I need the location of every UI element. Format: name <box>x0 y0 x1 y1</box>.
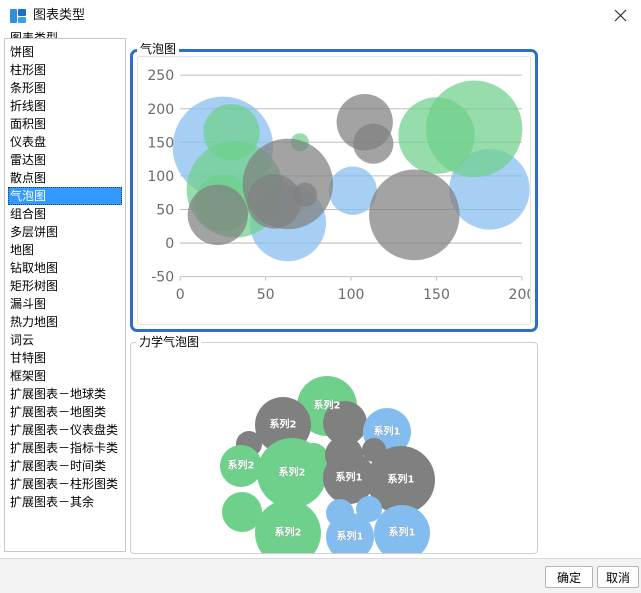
chart-type-item[interactable]: 扩展图表－指标卡类 <box>8 439 122 457</box>
chart-type-item[interactable]: 雷达图 <box>8 151 122 169</box>
force-bubble-preview-frame: 系列2系列2系列1系列2系列2系列1系列1系列2系列1系列1 <box>130 342 538 554</box>
x-axis-tick-label: 100 <box>338 287 365 303</box>
force-bubble-chart: 系列2系列2系列1系列2系列2系列1系列1系列2系列1系列1 <box>131 343 537 553</box>
force-bubble-label: 系列2 <box>228 459 255 472</box>
y-axis-tick-label: 150 <box>147 135 174 151</box>
chart-type-item[interactable]: 扩展图表－地图类 <box>8 403 122 421</box>
chart-type-item[interactable]: 扩展图表－时间类 <box>8 457 122 475</box>
chart-type-item[interactable]: 扩展图表－柱形图类 <box>8 475 122 493</box>
chart-type-item[interactable]: 甘特图 <box>8 349 122 367</box>
chart-type-item[interactable]: 折线图 <box>8 97 122 115</box>
chart-type-item[interactable]: 框架图 <box>8 367 122 385</box>
chart-type-item[interactable]: 多层饼图 <box>8 223 122 241</box>
bubble <box>188 185 248 245</box>
y-axis-tick-label: 50 <box>156 202 174 218</box>
chart-type-item[interactable]: 气泡图 <box>8 187 122 205</box>
dialog-footer: 确定 取消 <box>0 558 641 593</box>
y-axis-tick-label: 200 <box>147 102 174 118</box>
chart-type-item[interactable]: 钻取地图 <box>8 259 122 277</box>
x-axis-tick-label: 50 <box>257 287 275 303</box>
cancel-button[interactable]: 取消 <box>597 566 639 588</box>
x-axis-tick-label: 200 <box>509 287 530 303</box>
bubble <box>369 170 459 261</box>
window-title: 图表类型 <box>33 7 85 25</box>
dialog-body: 图表类型 饼图柱形图条形图折线图面积图仪表盘雷达图散点图气泡图组合图多层饼图地图… <box>0 31 641 558</box>
force-bubble-preview-group[interactable]: 力学气泡图 系列2系列2系列1系列2系列2系列1系列1系列2系列1系列1 <box>130 335 538 554</box>
force-bubble-label: 系列1 <box>374 425 401 438</box>
title-bar: 图表类型 <box>0 0 641 32</box>
force-bubble-label: 系列2 <box>314 399 341 412</box>
chart-type-item[interactable]: 矩形树图 <box>8 277 122 295</box>
y-axis-tick-label: 250 <box>147 68 174 84</box>
chart-type-list[interactable]: 饼图柱形图条形图折线图面积图仪表盘雷达图散点图气泡图组合图多层饼图地图钻取地图矩… <box>8 43 122 548</box>
x-axis-tick-label: 0 <box>176 287 185 303</box>
force-bubble-label: 系列2 <box>270 418 297 431</box>
bubble-preview-frame: -50050100150200250050100150200 <box>130 49 538 332</box>
bubble-chart: -50050100150200250050100150200 <box>138 57 530 324</box>
chart-type-item[interactable]: 饼图 <box>8 43 122 61</box>
ok-button[interactable]: 确定 <box>545 566 593 588</box>
bubble <box>353 123 393 163</box>
y-axis-tick-label: -50 <box>151 270 174 286</box>
bubble <box>243 139 333 230</box>
bubble-preview-title: 气泡图 <box>137 42 179 56</box>
force-bubble-label: 系列1 <box>389 526 416 539</box>
bubble <box>293 183 317 207</box>
force-bubble-label: 系列1 <box>388 473 415 486</box>
chart-type-item[interactable]: 仪表盘 <box>8 133 122 151</box>
bubble <box>426 81 522 178</box>
force-bubble-label: 系列2 <box>279 466 306 479</box>
chart-type-group-box: 饼图柱形图条形图折线图面积图仪表盘雷达图散点图气泡图组合图多层饼图地图钻取地图矩… <box>4 38 126 552</box>
chart-type-item[interactable]: 散点图 <box>8 169 122 187</box>
chart-type-item[interactable]: 热力地图 <box>8 313 122 331</box>
force-bubble-label: 系列1 <box>337 530 364 543</box>
chart-type-dialog: 图表类型 图表类型 饼图柱形图条形图折线图面积图仪表盘雷达图散点图气泡图组合图多… <box>0 0 641 592</box>
close-button[interactable] <box>599 0 641 31</box>
chart-type-item[interactable]: 地图 <box>8 241 122 259</box>
x-axis-tick-label: 150 <box>423 287 450 303</box>
chart-type-item[interactable]: 柱形图 <box>8 61 122 79</box>
chart-type-item[interactable]: 面积图 <box>8 115 122 133</box>
force-bubble-label: 系列2 <box>275 526 302 539</box>
chart-type-item[interactable]: 条形图 <box>8 79 122 97</box>
chart-type-item[interactable]: 扩展图表－仪表盘类 <box>8 421 122 439</box>
force-bubble-preview-title: 力学气泡图 <box>136 335 202 349</box>
chart-type-group: 图表类型 饼图柱形图条形图折线图面积图仪表盘雷达图散点图气泡图组合图多层饼图地图… <box>4 31 126 554</box>
bubble-preview-canvas: -50050100150200250050100150200 <box>137 56 531 325</box>
chart-type-item[interactable]: 词云 <box>8 331 122 349</box>
force-bubble-label: 系列1 <box>336 471 363 484</box>
bubble-preview-group[interactable]: 气泡图 -50050100150200250050100150200 <box>130 42 538 332</box>
y-axis-tick-label: 100 <box>147 169 174 185</box>
chart-type-item[interactable]: 组合图 <box>8 205 122 223</box>
force-bubble <box>255 500 321 553</box>
chart-type-item[interactable]: 扩展图表－地球类 <box>8 385 122 403</box>
y-axis-tick-label: 0 <box>165 236 174 252</box>
chart-type-item[interactable]: 漏斗图 <box>8 295 122 313</box>
app-icon <box>9 7 27 25</box>
close-icon <box>614 9 627 22</box>
chart-type-item[interactable]: 扩展图表－其余 <box>8 493 122 511</box>
